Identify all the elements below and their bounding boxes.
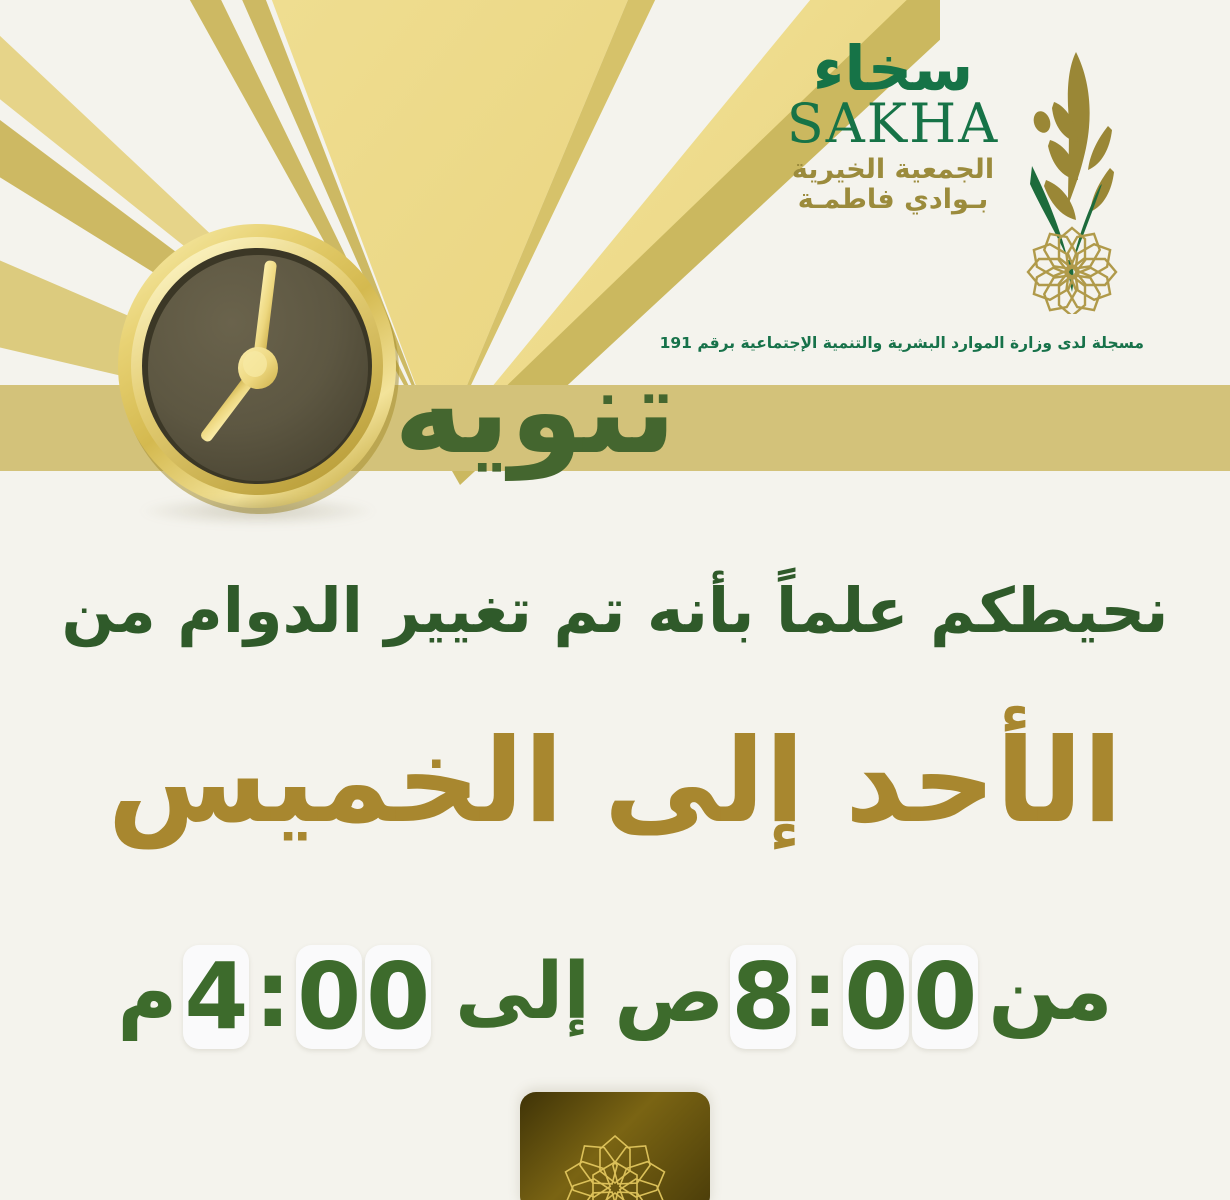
notice-text: نحيطكم علماً بأنه تم تغيير الدوام من — [0, 575, 1230, 646]
end-hour-digit: 4 — [184, 951, 248, 1043]
logo-registration-text: مسجلة لدى وزارة الموارد البشرية والتنمية… — [764, 334, 1144, 352]
end-minute-ones-digit: 0 — [366, 951, 430, 1043]
poster-canvas: سخاء SAKHA الجمعية الخيرية بـوادي فاطمـة — [0, 0, 1230, 1200]
start-minute-ones-tile: 0 — [912, 945, 978, 1049]
start-time-colon: : — [799, 949, 840, 1041]
start-time-group: 8 : 0 0 — [730, 945, 978, 1049]
clock-shadow — [138, 496, 378, 526]
working-days-range: الأحد إلى الخميس — [0, 715, 1230, 848]
logo-latin-name: SAKHA — [768, 97, 1018, 151]
end-minute-tens-tile: 0 — [296, 945, 362, 1049]
end-minute-tens-digit: 0 — [297, 951, 361, 1043]
geometric-rosette-ornament — [520, 1092, 710, 1200]
start-minute-tens-digit: 0 — [844, 951, 908, 1043]
footer-ornament-card — [520, 1092, 710, 1200]
page-title: تنويه — [0, 352, 1230, 470]
start-hour-digit: 8 — [731, 951, 795, 1043]
logo-subtitle-line2: بـوادي فاطمـة — [768, 185, 1018, 215]
start-minute-tens-tile: 0 — [843, 945, 909, 1049]
logo-text-block: سخاء SAKHA الجمعية الخيرية بـوادي فاطمـة — [768, 40, 1018, 215]
end-time-group: 4 : 0 0 — [183, 945, 431, 1049]
start-meridiem: ص — [614, 953, 724, 1041]
organization-logo: سخاء SAKHA الجمعية الخيرية بـوادي فاطمـة — [764, 34, 1144, 334]
to-label: إلى — [441, 953, 604, 1041]
start-hour-tile: 8 — [730, 945, 796, 1049]
from-label: من — [988, 951, 1113, 1043]
logo-arabic-name: سخاء — [768, 40, 1018, 99]
end-time-colon: : — [252, 949, 293, 1041]
wheat-stalk-rosette-icon — [998, 44, 1148, 314]
logo-subtitle-line1: الجمعية الخيرية — [768, 155, 1018, 185]
working-hours-row: من 8 : 0 0 ص إلى 4 : 0 0 — [0, 945, 1230, 1049]
end-minute-ones-tile: 0 — [365, 945, 431, 1049]
start-minute-ones-digit: 0 — [913, 951, 977, 1043]
end-meridiem: م — [117, 953, 177, 1041]
end-hour-tile: 4 — [183, 945, 249, 1049]
